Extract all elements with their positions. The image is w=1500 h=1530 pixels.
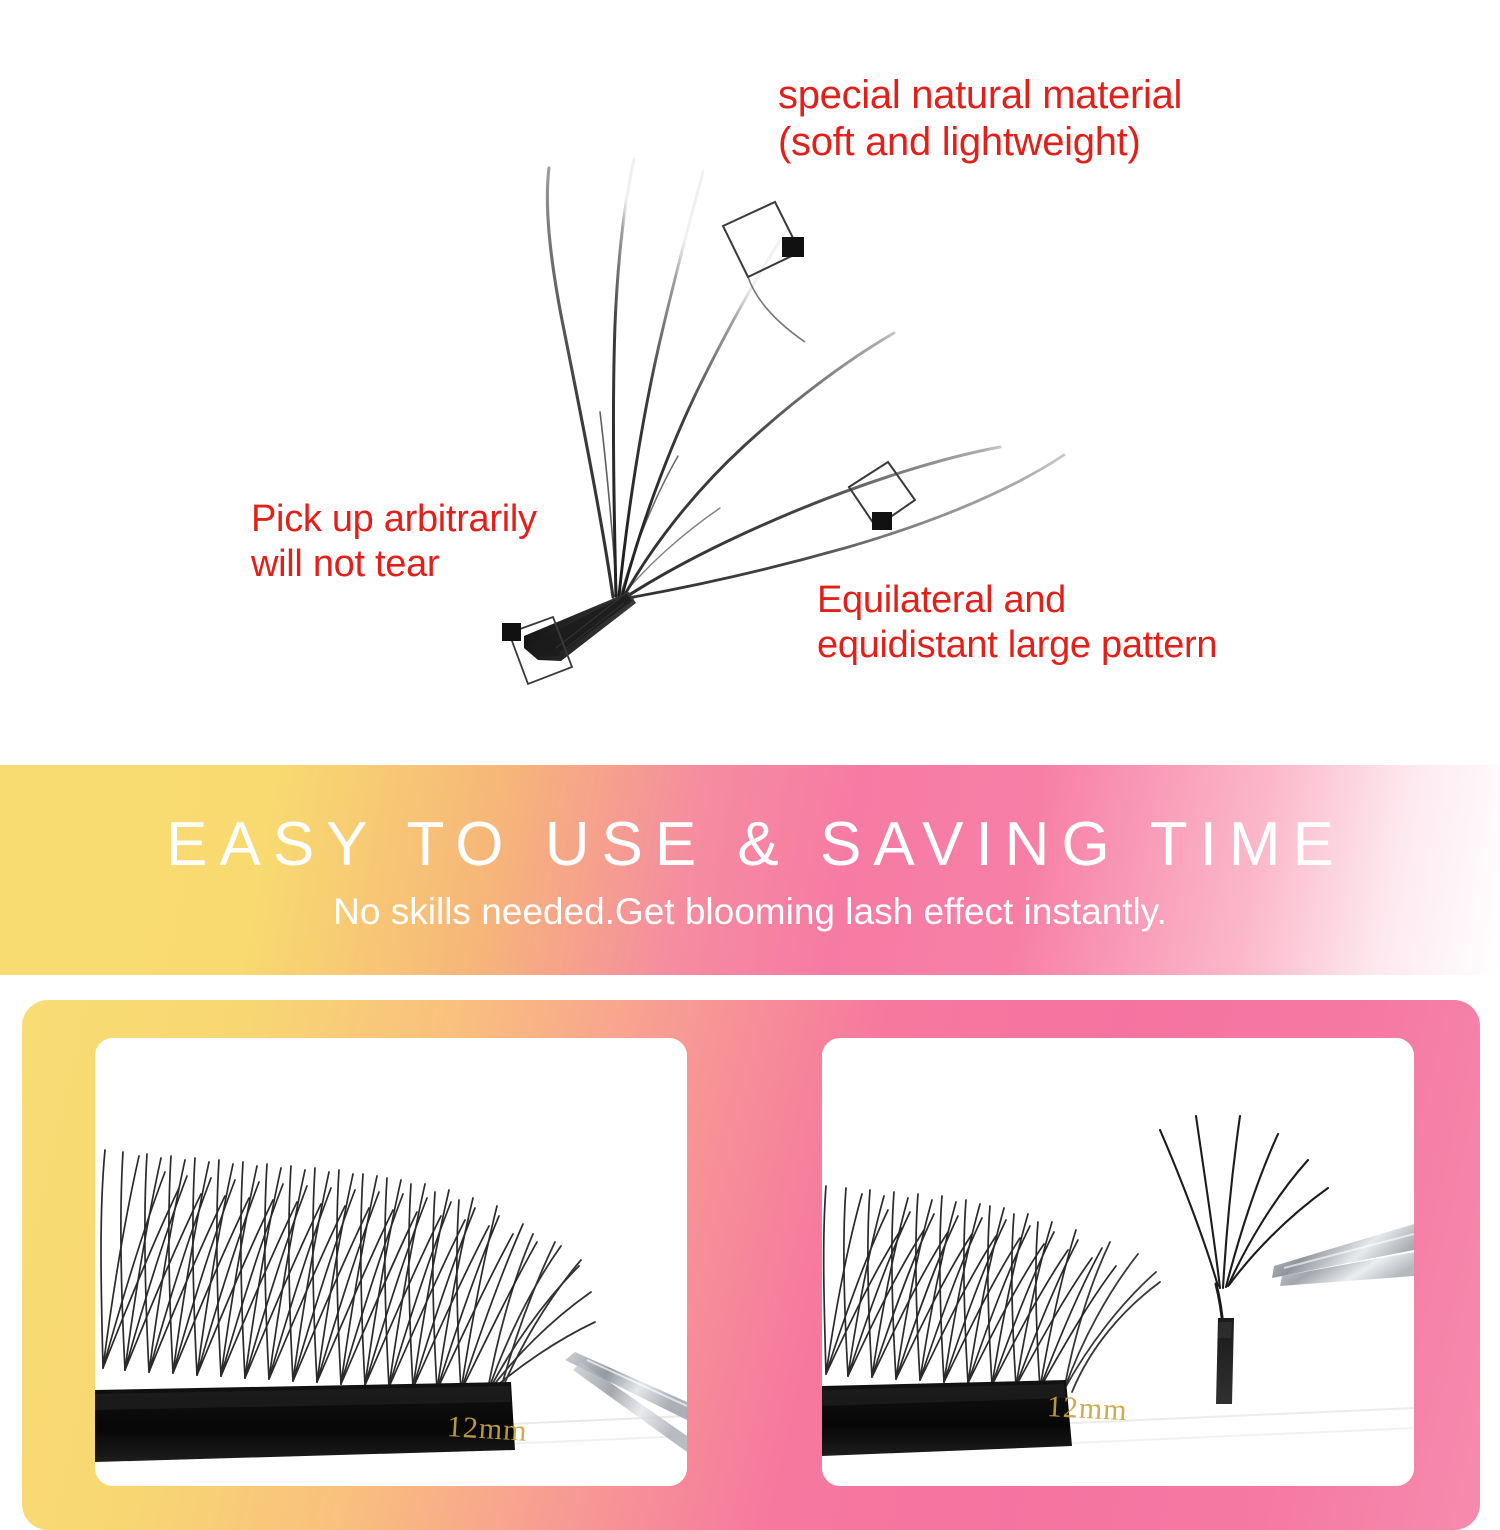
annotation-special-natural-material: special natural material (soft and light…	[778, 72, 1182, 166]
lash-length-label-left: 12mm	[446, 1410, 529, 1449]
product-photo-card-lash-tray[interactable]: 12mm	[95, 1038, 687, 1486]
lash-fiber-group	[547, 159, 1064, 598]
callout-marker-upper	[723, 202, 805, 342]
eyelash-tray-closeup-image	[95, 1038, 687, 1486]
product-gallery-panel: 12mm	[22, 1000, 1480, 1530]
lash-base-strip	[524, 592, 636, 661]
annotation-equilateral-equidistant: Equilateral and equidistant large patter…	[817, 578, 1217, 668]
banner-headline: EASY TO USE & SAVING TIME	[0, 809, 1500, 880]
banner-subtitle: No skills needed.Get blooming lash effec…	[0, 891, 1500, 933]
annotation-pick-up-arbitrarily: Pick up arbitrarily will not tear	[251, 497, 537, 587]
feature-banner: EASY TO USE & SAVING TIME No skills need…	[0, 765, 1500, 975]
product-photo-card-lash-pickup[interactable]: 12mm	[822, 1038, 1414, 1486]
lash-length-label-right: 12mm	[1046, 1390, 1128, 1428]
hero-section: special natural material (soft and light…	[0, 0, 1500, 765]
eyelash-fan-diagram	[0, 0, 1500, 765]
